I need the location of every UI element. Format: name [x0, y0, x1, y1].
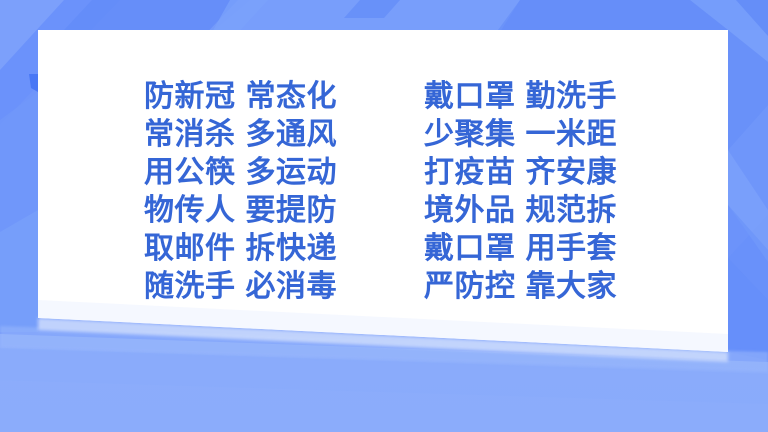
slogan-phrase-second: 拆快递	[246, 230, 338, 268]
slogan-line: 打疫苗齐安康	[424, 154, 617, 192]
slogan-phrase-second: 多运动	[246, 154, 338, 192]
slogan-line: 常消杀多通风	[144, 116, 337, 154]
slogan-phrase-first: 取邮件	[144, 230, 236, 268]
slogan-phrase-first: 戴口罩	[424, 78, 516, 116]
slogan-phrase-first: 物传人	[144, 192, 236, 230]
slogan-phrase-second: 齐安康	[526, 154, 618, 192]
slogan-text-block: 防新冠常态化 常消杀多通风 用公筷多运动 物传人要提防 取邮件拆快递 随洗手必消…	[0, 0, 768, 432]
slogan-phrase-first: 境外品	[424, 192, 516, 230]
slogan-line: 境外品规范拆	[424, 192, 617, 230]
slogan-phrase-second: 要提防	[246, 192, 338, 230]
slogan-phrase-first: 随洗手	[144, 268, 236, 306]
slogan-phrase-first: 常消杀	[144, 116, 236, 154]
slogan-phrase-first: 用公筷	[144, 154, 236, 192]
slogan-line: 戴口罩用手套	[424, 230, 617, 268]
slogan-phrase-second: 勤洗手	[526, 78, 618, 116]
slogan-column-right: 戴口罩勤洗手 少聚集一米距 打疫苗齐安康 境外品规范拆 戴口罩用手套 严防控靠大…	[424, 78, 617, 306]
slogan-column-left: 防新冠常态化 常消杀多通风 用公筷多运动 物传人要提防 取邮件拆快递 随洗手必消…	[144, 78, 337, 306]
slogan-phrase-first: 打疫苗	[424, 154, 516, 192]
slogan-phrase-second: 一米距	[526, 116, 618, 154]
slogan-phrase-second: 规范拆	[526, 192, 618, 230]
slogan-phrase-second: 多通风	[246, 116, 338, 154]
slogan-line: 用公筷多运动	[144, 154, 337, 192]
slogan-phrase-second: 必消毒	[246, 268, 338, 306]
slogan-line: 取邮件拆快递	[144, 230, 337, 268]
slogan-line: 物传人要提防	[144, 192, 337, 230]
slogan-phrase-second: 常态化	[246, 78, 338, 116]
slogan-line: 随洗手必消毒	[144, 268, 337, 306]
slogan-phrase-first: 严防控	[424, 268, 516, 306]
slogan-line: 严防控靠大家	[424, 268, 617, 306]
slogan-phrase-first: 防新冠	[144, 78, 236, 116]
slogan-phrase-second: 用手套	[526, 230, 618, 268]
slogan-line: 防新冠常态化	[144, 78, 337, 116]
slogan-phrase-second: 靠大家	[526, 268, 618, 306]
poster-canvas: 防新冠常态化 常消杀多通风 用公筷多运动 物传人要提防 取邮件拆快递 随洗手必消…	[0, 0, 768, 432]
slogan-phrase-first: 戴口罩	[424, 230, 516, 268]
slogan-line: 戴口罩勤洗手	[424, 78, 617, 116]
slogan-phrase-first: 少聚集	[424, 116, 516, 154]
slogan-line: 少聚集一米距	[424, 116, 617, 154]
